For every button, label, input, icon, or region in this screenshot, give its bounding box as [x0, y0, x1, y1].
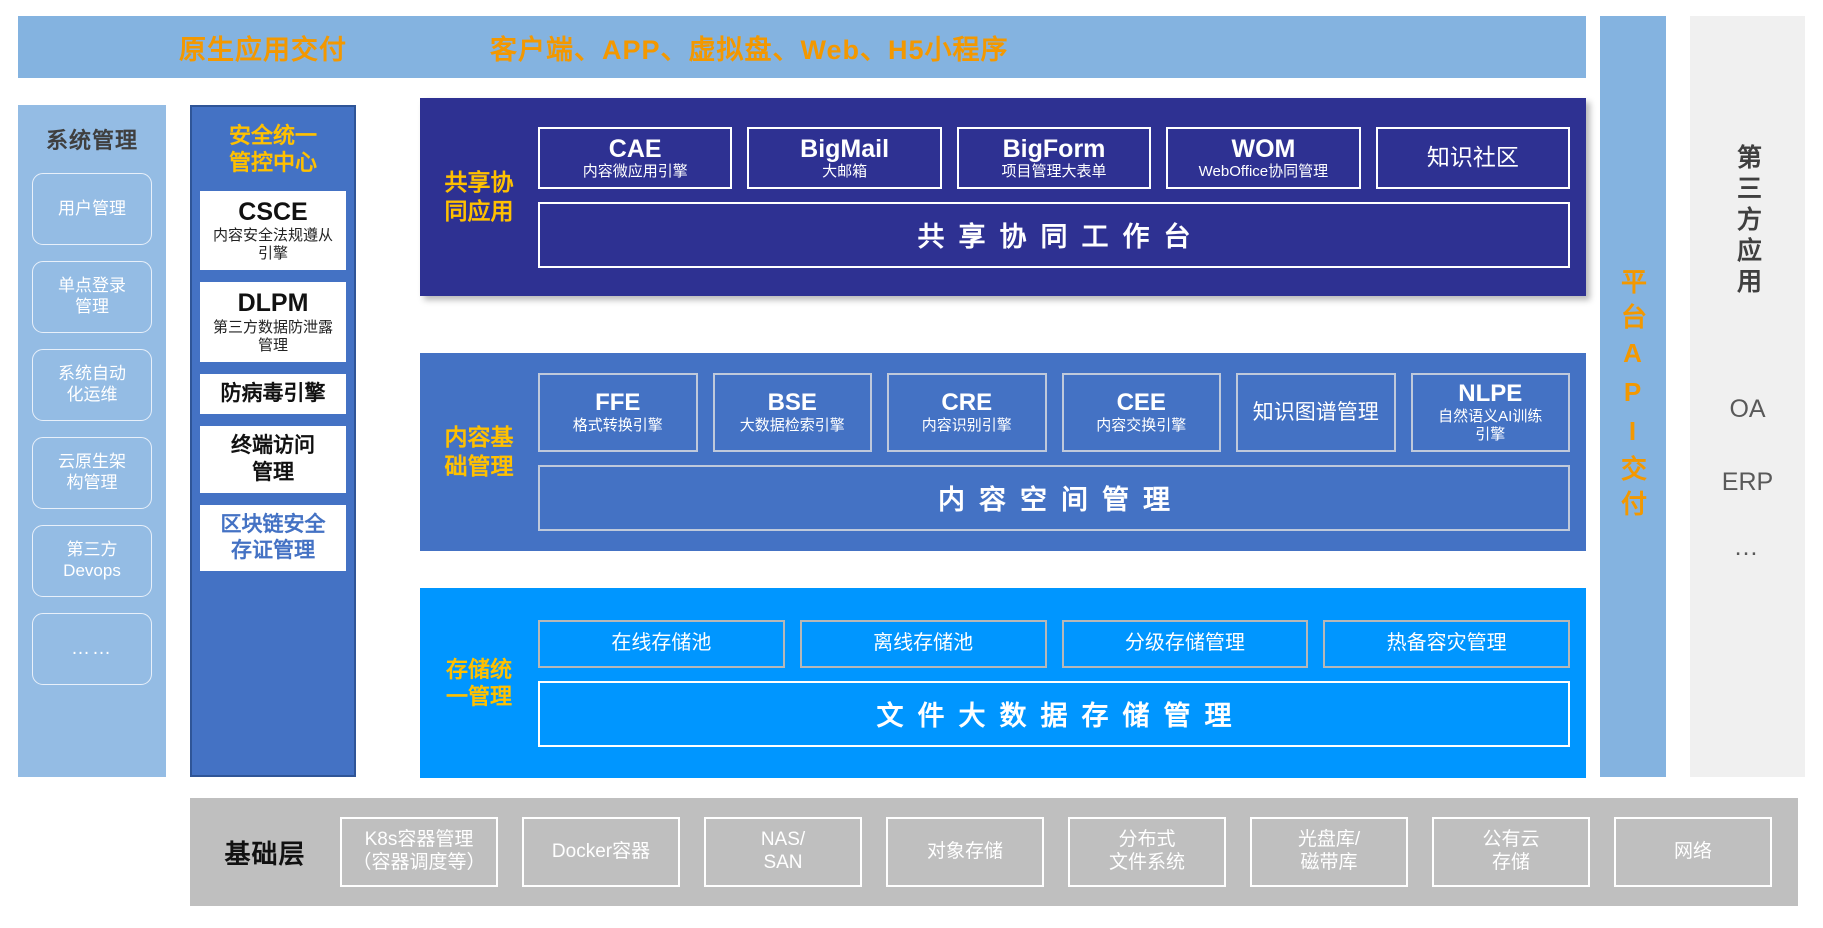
security-center-column: 安全统一管控中心 CSCE 内容安全法规遵从引擎 DLPM 第三方数据防泄露管理… [190, 105, 356, 777]
shared-collaboration-workbench-bar[interactable]: 共享协同工作台 [538, 202, 1570, 268]
sidebar-item-automation-ops[interactable]: 系统自动化运维 [32, 349, 152, 421]
third-party-applications-column: 第三方应用 OA ERP … [1690, 16, 1805, 777]
top-banner-title: 原生应用交付 [179, 28, 347, 67]
chip-cee[interactable]: CEE 内容交换引擎 [1062, 373, 1222, 451]
chip-bigmail[interactable]: BigMail 大邮箱 [747, 127, 941, 189]
infra-chip-public-cloud-storage[interactable]: 公有云存储 [1432, 817, 1590, 887]
chip-bse[interactable]: BSE 大数据检索引擎 [713, 373, 873, 451]
panel-content-base-management: 内容基础管理 FFE 格式转换引擎 BSE 大数据检索引擎 CRE 内容识别引擎… [420, 353, 1586, 551]
chip-ffe-code: FFE [595, 390, 640, 417]
panel-content-base-management-label: 内容基础管理 [420, 353, 538, 551]
chip-wom-desc: WebOffice协同管理 [1199, 163, 1328, 181]
chip-cae-code: CAE [609, 135, 662, 163]
security-card-blockchain-evidence[interactable]: 区块链安全存证管理 [200, 505, 346, 572]
panel-shared-collaboration-chips: CAE 内容微应用引擎 BigMail 大邮箱 BigForm 项目管理大表单 … [538, 127, 1570, 189]
chip-nlpe[interactable]: NLPE 自然语义AI训练引擎 [1411, 373, 1571, 451]
chip-nlpe-code: NLPE [1458, 381, 1522, 408]
infra-chip-nas-san[interactable]: NAS/SAN [704, 817, 862, 887]
infra-chip-docker[interactable]: Docker容器 [522, 817, 680, 887]
security-card-csce-desc: 内容安全法规遵从引擎 [213, 227, 333, 263]
third-party-item-erp[interactable]: ERP [1722, 468, 1773, 497]
infrastructure-layer-chips: K8s容器管理（容器调度等） Docker容器 NAS/SAN 对象存储 分布式… [340, 817, 1798, 887]
panel-shared-collaboration: 共享协同应用 CAE 内容微应用引擎 BigMail 大邮箱 BigForm 项… [420, 98, 1586, 296]
chip-tiered-storage-management-label: 分级存储管理 [1125, 632, 1245, 654]
chip-offline-storage-pool-label: 离线存储池 [873, 632, 973, 654]
file-bigdata-storage-management-bar[interactable]: 文件大数据存储管理 [538, 681, 1570, 747]
chip-ffe-desc: 格式转换引擎 [573, 417, 663, 435]
chip-knowledge-graph-management[interactable]: 知识图谱管理 [1236, 373, 1396, 451]
chip-bigform[interactable]: BigForm 项目管理大表单 [957, 127, 1151, 189]
top-banner-subtitle: 客户端、APP、虚拟盘、Web、H5小程序 [490, 28, 1009, 67]
chip-knowledge-community-label: 知识社区 [1427, 145, 1519, 171]
chip-cre-code: CRE [941, 390, 992, 417]
chip-bigform-code: BigForm [1003, 135, 1106, 163]
chip-offline-storage-pool[interactable]: 离线存储池 [800, 620, 1047, 668]
platform-api-delivery-column: 平台API交付 [1600, 16, 1666, 777]
security-card-dlpm-code: DLPM [238, 289, 309, 318]
chip-online-storage-pool-label: 在线存储池 [611, 632, 711, 654]
chip-hot-standby-dr-management[interactable]: 热备容灾管理 [1323, 620, 1570, 668]
infra-chip-distributed-filesystem[interactable]: 分布式文件系统 [1068, 817, 1226, 887]
security-center-title: 安全统一管控中心 [192, 123, 354, 177]
content-space-management-bar[interactable]: 内容空间管理 [538, 465, 1570, 531]
chip-cae[interactable]: CAE 内容微应用引擎 [538, 127, 732, 189]
chip-hot-standby-dr-management-label: 热备容灾管理 [1387, 632, 1507, 654]
third-party-applications-title: 第三方应用 [1730, 144, 1766, 299]
security-card-antivirus-engine-label: 防病毒引擎 [221, 381, 326, 407]
chip-bigmail-code: BigMail [800, 135, 889, 163]
chip-tiered-storage-management[interactable]: 分级存储管理 [1062, 620, 1309, 668]
panel-storage-management-label: 存储统一管理 [420, 588, 538, 778]
panel-shared-collaboration-label: 共享协同应用 [420, 98, 538, 296]
sidebar-item-user-management[interactable]: 用户管理 [32, 173, 152, 245]
security-card-csce[interactable]: CSCE 内容安全法规遵从引擎 [200, 191, 346, 271]
chip-bigmail-desc: 大邮箱 [822, 163, 867, 181]
sidebar-item-sso-management[interactable]: 单点登录管理 [32, 261, 152, 333]
chip-wom[interactable]: WOM WebOffice协同管理 [1166, 127, 1360, 189]
chip-online-storage-pool[interactable]: 在线存储池 [538, 620, 785, 668]
security-card-blockchain-evidence-label: 区块链安全存证管理 [221, 512, 326, 565]
sidebar-item-more[interactable]: …… [32, 613, 152, 685]
security-card-dlpm-desc: 第三方数据防泄露管理 [213, 319, 333, 355]
system-management-column: 系统管理 用户管理 单点登录管理 系统自动化运维 云原生架构管理 第三方Devo… [18, 105, 166, 777]
chip-wom-code: WOM [1231, 135, 1295, 163]
chip-cre-desc: 内容识别引擎 [922, 417, 1012, 435]
panel-storage-management-chips: 在线存储池 离线存储池 分级存储管理 热备容灾管理 [538, 620, 1570, 668]
chip-cee-code: CEE [1117, 390, 1166, 417]
panel-content-base-management-chips: FFE 格式转换引擎 BSE 大数据检索引擎 CRE 内容识别引擎 CEE 内容… [538, 373, 1570, 451]
chip-bse-desc: 大数据检索引擎 [740, 417, 845, 435]
security-card-csce-code: CSCE [238, 198, 307, 227]
chip-cee-desc: 内容交换引擎 [1096, 417, 1186, 435]
chip-knowledge-community[interactable]: 知识社区 [1376, 127, 1570, 189]
panel-storage-management: 存储统一管理 在线存储池 离线存储池 分级存储管理 热备容灾管理 文件大数据存储… [420, 588, 1586, 778]
chip-knowledge-graph-management-label: 知识图谱管理 [1253, 401, 1379, 425]
security-card-antivirus-engine[interactable]: 防病毒引擎 [200, 374, 346, 414]
panel-content-base-management-body: FFE 格式转换引擎 BSE 大数据检索引擎 CRE 内容识别引擎 CEE 内容… [538, 353, 1586, 551]
sidebar-item-cloud-native-arch[interactable]: 云原生架构管理 [32, 437, 152, 509]
sidebar-item-third-party-devops[interactable]: 第三方Devops [32, 525, 152, 597]
infra-chip-optical-tape-library[interactable]: 光盘库/磁带库 [1250, 817, 1408, 887]
system-management-title: 系统管理 [18, 123, 166, 155]
infra-chip-network[interactable]: 网络 [1614, 817, 1772, 887]
chip-nlpe-desc: 自然语义AI训练引擎 [1438, 408, 1542, 443]
chip-bse-code: BSE [768, 390, 817, 417]
chip-cae-desc: 内容微应用引擎 [583, 163, 688, 181]
panel-storage-management-body: 在线存储池 离线存储池 分级存储管理 热备容灾管理 文件大数据存储管理 [538, 588, 1586, 778]
security-card-terminal-access-label: 终端访问管理 [231, 433, 315, 486]
chip-ffe[interactable]: FFE 格式转换引擎 [538, 373, 698, 451]
security-card-terminal-access[interactable]: 终端访问管理 [200, 426, 346, 493]
security-card-dlpm[interactable]: DLPM 第三方数据防泄露管理 [200, 282, 346, 362]
chip-cre[interactable]: CRE 内容识别引擎 [887, 373, 1047, 451]
top-banner: 原生应用交付 客户端、APP、虚拟盘、Web、H5小程序 [18, 16, 1586, 78]
panel-shared-collaboration-body: CAE 内容微应用引擎 BigMail 大邮箱 BigForm 项目管理大表单 … [538, 98, 1586, 296]
infrastructure-layer-label: 基础层 [190, 834, 340, 871]
platform-api-delivery-label: 平台API交付 [1615, 268, 1652, 525]
third-party-item-oa[interactable]: OA [1729, 395, 1765, 424]
infrastructure-layer: 基础层 K8s容器管理（容器调度等） Docker容器 NAS/SAN 对象存储… [190, 798, 1798, 906]
third-party-item-more: … [1734, 533, 1762, 562]
infra-chip-k8s[interactable]: K8s容器管理（容器调度等） [340, 817, 498, 887]
architecture-diagram: 原生应用交付 客户端、APP、虚拟盘、Web、H5小程序 系统管理 用户管理 单… [0, 0, 1823, 928]
infra-chip-object-storage[interactable]: 对象存储 [886, 817, 1044, 887]
chip-bigform-desc: 项目管理大表单 [1002, 163, 1107, 181]
